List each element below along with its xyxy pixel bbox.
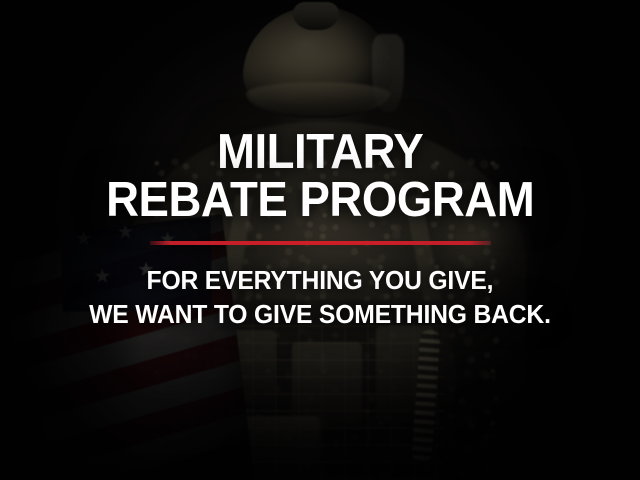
headline: MILITARY REBATE PROGRAM bbox=[106, 129, 534, 224]
headline-line-2: REBATE PROGRAM bbox=[106, 177, 534, 225]
headline-line-1: MILITARY bbox=[106, 129, 534, 177]
text-overlay: MILITARY REBATE PROGRAM FOR EVERYTHING Y… bbox=[0, 0, 640, 480]
subheadline: FOR EVERYTHING YOU GIVE, WE WANT TO GIVE… bbox=[89, 264, 551, 332]
military-rebate-banner: ★ ★ ★ ★ ★ ★ MILITARY REBATE PROGRAM FOR … bbox=[0, 0, 640, 480]
red-divider-rule bbox=[150, 241, 491, 245]
subheadline-line-2: WE WANT TO GIVE SOMETHING BACK. bbox=[89, 298, 551, 332]
subheadline-line-1: FOR EVERYTHING YOU GIVE, bbox=[89, 264, 551, 298]
